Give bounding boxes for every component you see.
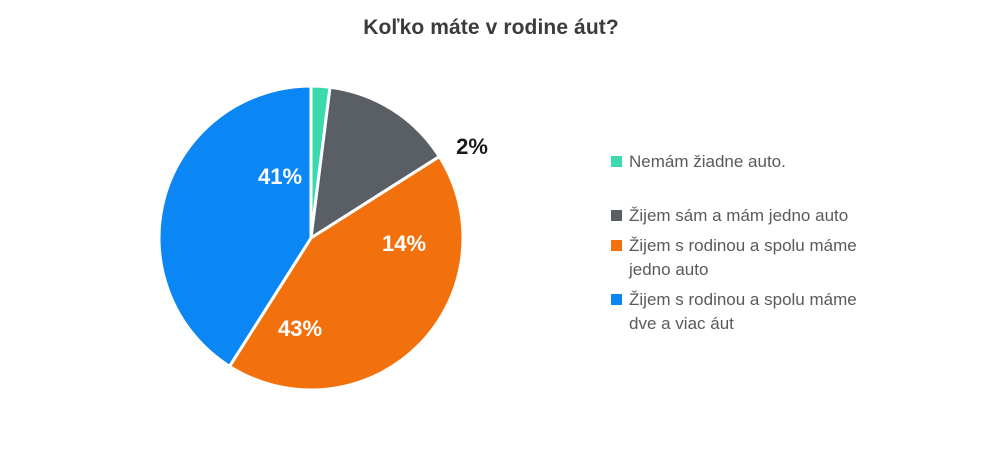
pie-svg: 2%14%43%41% [140, 70, 530, 410]
legend-swatch-icon [611, 240, 622, 251]
pie-slice-value-label: 41% [258, 164, 302, 189]
chart-title: Koľko máte v rodine áut? [0, 16, 982, 40]
legend-item[interactable]: Žijem sám a mám jedno auto [611, 204, 911, 228]
pie-plot-area: 2%14%43%41% [140, 70, 530, 410]
legend-swatch-icon [611, 294, 622, 305]
legend-item-label: Žijem sám a mám jedno auto [629, 204, 848, 228]
pie-slice-value-label: 43% [278, 316, 322, 341]
pie-slice-value-label: 14% [382, 231, 426, 256]
legend-item-label: Nemám žiadne auto. [629, 150, 786, 174]
pie-chart-figure: Koľko máte v rodine áut? 2%14%43%41% Nem… [0, 0, 982, 454]
legend-swatch-icon [611, 156, 622, 167]
legend-swatch-icon [611, 210, 622, 221]
pie-slice-value-label: 2% [456, 134, 488, 159]
legend-item[interactable]: Žijem s rodinou a spolu máme jedno auto [611, 234, 911, 282]
legend-item-label: Žijem s rodinou a spolu máme jedno auto [629, 234, 869, 282]
legend-item[interactable]: Žijem s rodinou a spolu máme dve a viac … [611, 288, 911, 336]
chart-legend: Nemám žiadne auto.Žijem sám a mám jedno … [611, 150, 911, 342]
legend-item-label: Žijem s rodinou a spolu máme dve a viac … [629, 288, 869, 336]
legend-item[interactable]: Nemám žiadne auto. [611, 150, 911, 174]
